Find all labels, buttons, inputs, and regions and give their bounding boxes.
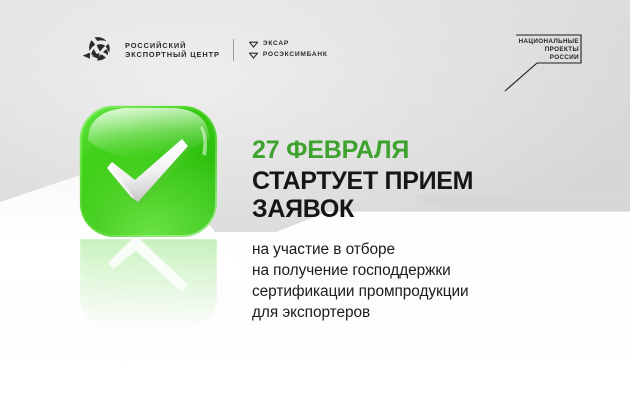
logo-divider: [233, 39, 234, 61]
exiar-mark-icon: [249, 41, 258, 48]
checkmark-reflection: [80, 239, 217, 331]
np-line-1: НАЦИОНАЛЬНЫЕ: [517, 38, 579, 46]
rec-globe-mark-icon: [82, 36, 116, 64]
sub-brand-exiar-label: ЭКСАР: [263, 41, 289, 48]
copy-block: 27 ФЕВРАЛЯ СТАРТУЕТ ПРИЕМ ЗАЯВОК на учас…: [252, 137, 592, 324]
np-line-2: ПРОЕКТЫ: [517, 46, 579, 54]
subtitle-line-3: сертификации промпродукции: [252, 282, 592, 303]
subtitle-line-2: на получение господдержки: [252, 261, 592, 282]
subtitle-line-4: для экспортеров: [252, 303, 592, 324]
sub-brand-roseximbank: РОСЭКСИМБАНК: [249, 52, 328, 59]
sub-brand-roseximbank-label: РОСЭКСИМБАНК: [263, 52, 328, 59]
promo-poster: РОССИЙСКИЙ ЭКСПОРТНЫЙ ЦЕНТР ЭКСАР РО: [0, 0, 630, 407]
headline-main: СТАРТУЕТ ПРИЕМ ЗАЯВОК: [252, 167, 592, 224]
roseximbank-mark-icon: [249, 52, 258, 59]
np-line-3: РОССИИ: [517, 54, 579, 62]
sub-brand-exiar: ЭКСАР: [249, 41, 328, 48]
headline-line-2: ЗАЯВОК: [252, 195, 592, 223]
national-projects-logo: НАЦИОНАЛЬНЫЕ ПРОЕКТЫ РОССИИ: [503, 33, 589, 93]
green-checkmark-icon: [78, 104, 219, 239]
rec-logo-lockup: РОССИЙСКИЙ ЭКСПОРТНЫЙ ЦЕНТР ЭКСАР РО: [82, 36, 328, 64]
rec-logo-line-2: ЭКСПОРТНЫЙ ЦЕНТР: [125, 51, 220, 58]
headline-line-1: СТАРТУЕТ ПРИЕМ: [252, 167, 592, 195]
subtitle-block: на участие в отборе на получение господд…: [252, 240, 592, 324]
subtitle-line-1: на участие в отборе: [252, 240, 592, 261]
headline-date: 27 ФЕВРАЛЯ: [252, 137, 592, 164]
national-projects-wordmark: НАЦИОНАЛЬНЫЕ ПРОЕКТЫ РОССИИ: [517, 38, 579, 62]
rec-logo-line-1: РОССИЙСКИЙ: [125, 42, 220, 49]
sub-brand-list: ЭКСАР РОСЭКСИМБАНК: [249, 41, 328, 59]
rec-logo-wordmark: РОССИЙСКИЙ ЭКСПОРТНЫЙ ЦЕНТР: [125, 42, 220, 59]
